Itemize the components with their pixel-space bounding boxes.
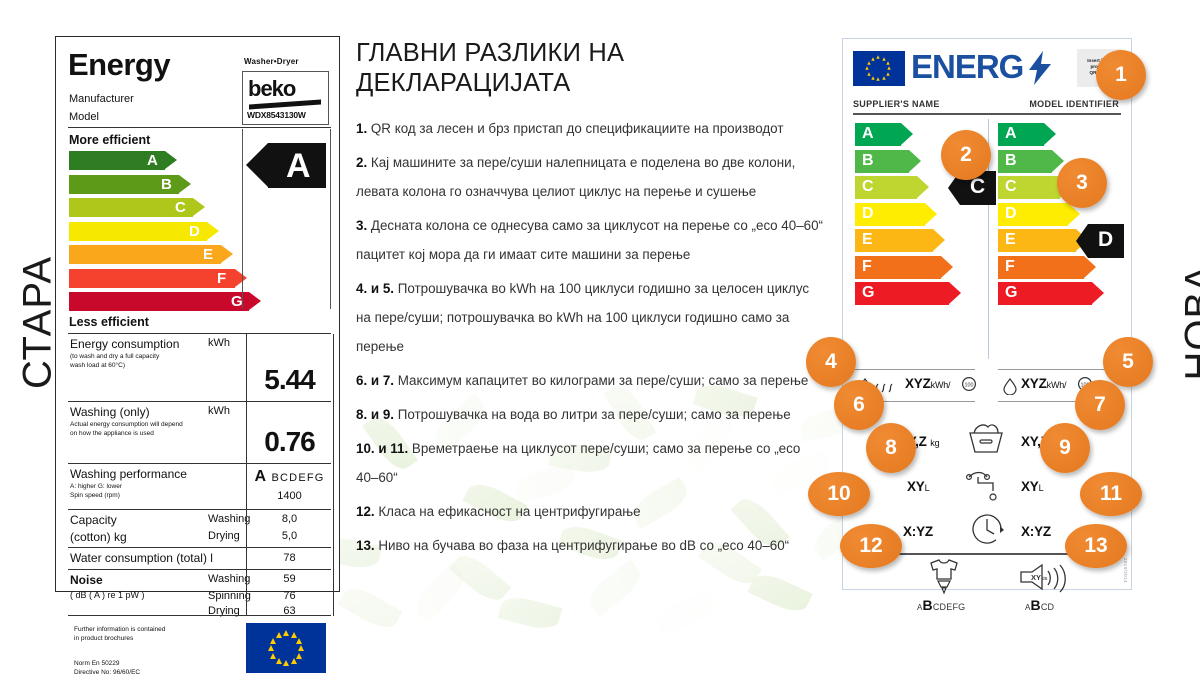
old-scale-bar-D: D (69, 222, 229, 241)
difference-item: 3. Десната колона се однесува само за ци… (356, 211, 824, 269)
old-scale-bar-E: E (69, 245, 229, 264)
item-text: Времетраење на циклусот пере/суши; само … (356, 441, 800, 485)
item-text: Класа на ефикасност на центрифугирање (375, 504, 641, 519)
old-table-row: Energy consumption(to wash and dry a ful… (68, 333, 331, 402)
new-scale-bar-left-C: C (855, 176, 943, 199)
water-right-value: XYL (1021, 479, 1043, 494)
new-scale-letter: C (862, 178, 874, 196)
old-label-model-code: WDX8543130W (247, 110, 306, 120)
old-scale-bar-A: A (69, 151, 229, 170)
energy-right-value: XYZkWh/ (1021, 376, 1066, 391)
new-scale-letter: G (1005, 284, 1017, 302)
new-scale-letter: D (1005, 205, 1017, 223)
callout-badge-7[interactable]: 7 (1075, 380, 1125, 430)
item-text: Максимум капацитет во килограми за пере/… (394, 373, 808, 388)
row-unit: Washing (208, 513, 250, 525)
row-value: A BCDEFG (246, 468, 333, 486)
item-number: 8. и 9. (356, 407, 394, 422)
laundry-basket-icon (962, 421, 1010, 460)
callout-badge-3[interactable]: 3 (1057, 158, 1107, 208)
item-text: Потрошувачка во kWh на 100 циклуси годиш… (356, 281, 809, 354)
item-number: 10. и 11. (356, 441, 408, 456)
row-value-2: 1400 (246, 490, 333, 502)
row-value-2: 5,0 (246, 530, 333, 542)
old-scale-bar-B: B (69, 175, 229, 194)
divider (853, 113, 1121, 115)
callout-badge-5[interactable]: 5 (1103, 337, 1153, 387)
old-table-row: Washing performanceA: higher G: lower Sp… (68, 463, 331, 510)
item-number: 3. (356, 218, 367, 233)
new-scale-letter: F (862, 258, 872, 276)
old-label-footer-2: Norm En 50229 Directive No: 96/60/EC (74, 659, 140, 677)
new-scale-bar-left-F: F (855, 256, 943, 279)
svg-text:XY: XY (1031, 573, 1041, 582)
old-scale-letter: B (161, 176, 172, 193)
old-scale-bar-G: G (69, 292, 229, 311)
new-scale-letter: A (862, 125, 874, 143)
row-label: Water consumption (total) l (70, 551, 213, 565)
item-number: 2. (356, 155, 367, 170)
callout-badge-1[interactable]: 1 (1096, 50, 1146, 100)
new-label-scale-right: ABCDEFG (998, 123, 1086, 309)
row-value: 59 (246, 573, 333, 585)
spin-class-scale: ABCDEFG (917, 597, 965, 613)
callout-badge-13[interactable]: 13 (1065, 524, 1127, 568)
old-table-row: Noise( dB ( A ) re 1 pW )WashingSpinning… (68, 569, 331, 616)
difference-item: 12. Класа на ефикасност на центрифугирањ… (356, 497, 824, 526)
difference-item: 10. и 11. Времетраење на циклусот пере/с… (356, 434, 824, 492)
new-scale-letter: E (1005, 231, 1016, 249)
time-left-value: X:YZ (903, 524, 933, 539)
new-scale-letter: A (1005, 125, 1017, 143)
energy-left-value: XYZkWh/ (905, 376, 950, 391)
leaf-decoration (747, 569, 812, 618)
row-sublabel: A: higher G: lower Spin speed (rpm) (70, 483, 122, 500)
differences-panel: ГЛАВНИ РАЗЛИКИ НА ДЕКЛАРАЦИЈАТА 1. QR ко… (356, 38, 824, 565)
old-label-data-table: Energy consumption(to wash and dry a ful… (68, 333, 331, 585)
row-unit-2: Spinning (208, 590, 251, 602)
row-label-2: (cotton) kg (70, 530, 127, 544)
row-value-2: 76 (246, 590, 333, 602)
old-label-rated-class-letter: A (286, 145, 311, 187)
page-root: СТАРА НОВА Energy Manufacturer Model Was… (0, 0, 1200, 628)
old-scale-letter: A (147, 152, 158, 169)
new-scale-letter: D (862, 205, 874, 223)
old-label-manufacturer: Manufacturer (69, 93, 134, 105)
new-scale-letter: E (862, 231, 873, 249)
old-label-scale: ABCDEFG (69, 151, 229, 316)
eu-flag-icon (853, 51, 905, 86)
callout-badge-4[interactable]: 4 (806, 337, 856, 387)
new-scale-bar-right-F: F (998, 256, 1086, 279)
new-label-scale-left: ABCDEFG (855, 123, 943, 309)
item-text: QR код за лесен и брз пристап до специфи… (367, 121, 783, 136)
row-value: 0.76 (246, 426, 333, 458)
leaf-decoration (498, 593, 563, 634)
eu-flag-icon (246, 623, 326, 673)
old-energy-label: Energy Manufacturer Model Washer•Dryer b… (55, 36, 340, 592)
old-label-appliance-type: Washer•Dryer (244, 57, 299, 66)
old-scale-bar-C: C (69, 198, 229, 217)
tap-faucet-icon (963, 467, 1009, 506)
item-text: Потрошувачка на вода во литри за пере/су… (394, 407, 791, 422)
svg-text:100: 100 (965, 383, 974, 389)
new-scale-bar-left-A: A (855, 123, 943, 146)
new-label-class-right: D (1076, 224, 1124, 258)
new-scale-letter: C (1005, 178, 1017, 196)
row-label: Washing (only) (70, 405, 150, 419)
time-right-value: X:YZ (1021, 524, 1051, 539)
callout-badge-9[interactable]: 9 (1040, 423, 1090, 473)
row-unit: Washing (208, 573, 250, 585)
noise-speaker-icon: XY dB (1018, 563, 1074, 598)
item-number: 12. (356, 504, 375, 519)
leaf-decoration (338, 582, 403, 635)
old-label-brand: beko (248, 76, 295, 102)
leaf-decoration (583, 559, 646, 616)
new-scale-bar-right-A: A (998, 123, 1086, 146)
water-left-value: XYL (907, 479, 929, 494)
item-number: 1. (356, 121, 367, 136)
old-scale-letter: C (175, 199, 186, 216)
old-label-class-column: A (242, 129, 331, 309)
new-scale-letter: B (862, 152, 874, 170)
new-scale-bar-left-G: G (855, 282, 943, 305)
old-label-brand-box: beko WDX8543130W (242, 71, 329, 125)
callout-badge-11[interactable]: 11 (1080, 472, 1142, 516)
row-unit: kWh (208, 337, 230, 349)
item-number: 13. (356, 538, 375, 553)
old-label-model: Model (69, 111, 99, 123)
clock-icon (967, 509, 1009, 554)
row-sublabel: (to wash and dry a full capacity wash lo… (70, 353, 159, 370)
row-label: Washing performance (70, 467, 187, 481)
leaf-decoration (652, 590, 717, 637)
old-label-title: Energy (68, 47, 170, 83)
lightning-bolt-icon (1029, 51, 1051, 85)
row-value: 8,0 (246, 513, 333, 525)
svg-text:dB: dB (1042, 576, 1048, 581)
old-table-row: Capacity(cotton) kgWashingDrying8,05,0 (68, 509, 331, 548)
new-scale-bar-left-D: D (855, 203, 943, 226)
item-text: Десната колона се однесува само за циклу… (356, 218, 823, 262)
row-sublabel: Actual energy consumption will depend on… (70, 421, 183, 438)
row-label: Noise (70, 573, 103, 587)
new-label-class-right-letter: D (1098, 228, 1113, 252)
difference-item: 8. и 9. Потрошувачка на вода во литри за… (356, 400, 824, 429)
new-scale-bar-left-B: B (855, 150, 943, 173)
old-scale-letter: F (217, 270, 226, 287)
old-scale-letter: E (203, 246, 213, 263)
old-scale-letter: D (189, 223, 200, 240)
item-number: 6. и 7. (356, 373, 394, 388)
differences-list: 1. QR код за лесен и брз пристап до спец… (356, 114, 824, 560)
caption-new-label: НОВА (1178, 243, 1200, 403)
old-scale-bar-F: F (69, 269, 229, 288)
old-table-row: Washing (only)Actual energy consumption … (68, 401, 331, 464)
item-text: Ниво на бучава во фаза на центрифугирање… (375, 538, 790, 553)
new-label-brandword: ENERG (911, 48, 1023, 86)
noise-class-scale: ABCD (1025, 597, 1054, 613)
old-scale-letter: G (231, 293, 243, 310)
new-label-supplier: SUPPLIER'S NAME (853, 99, 940, 109)
difference-item: 4. и 5. Потрошувачка во kWh на 100 циклу… (356, 274, 824, 361)
old-label-less-efficient: Less efficient (69, 315, 149, 329)
old-label-more-efficient: More efficient (69, 133, 150, 147)
row-unit: kWh (208, 405, 230, 417)
regulation-code: 2019/2014 (1123, 558, 1128, 583)
row-value: 5.44 (246, 364, 333, 396)
caption-old-label: СТАРА (16, 243, 61, 403)
callout-badge-12[interactable]: 12 (840, 524, 902, 568)
callout-badge-6[interactable]: 6 (834, 380, 884, 430)
new-scale-bar-left-E: E (855, 229, 943, 252)
row-value: 78 (246, 552, 333, 564)
new-label-header: ENERG Insert here product QR code (853, 49, 1121, 91)
new-scale-letter: F (1005, 258, 1015, 276)
row-unit-2: Drying (208, 530, 240, 542)
old-label-rated-class-arrow: A (246, 143, 326, 188)
row-label: Energy consumption (70, 337, 179, 351)
new-scale-bar-right-E: E (998, 229, 1086, 252)
spin-tshirt-icon (923, 557, 965, 602)
callout-badge-8[interactable]: 8 (866, 423, 916, 473)
new-scale-letter: G (862, 284, 874, 302)
item-text: Кај машините за пере/суши налепницата е … (356, 155, 795, 199)
new-label-model-identifier: MODEL IDENTIFIER (1029, 99, 1119, 109)
new-scale-bar-right-G: G (998, 282, 1086, 305)
drop-icon (1003, 377, 1017, 400)
callout-badge-10[interactable]: 10 (808, 472, 870, 516)
page-title: ГЛАВНИ РАЗЛИКИ НА ДЕКЛАРАЦИЈАТА (356, 38, 824, 98)
difference-item: 2. Кај машините за пере/суши налепницата… (356, 148, 824, 206)
difference-item: 13. Ниво на бучава во фаза на центрифуги… (356, 531, 824, 560)
difference-item: 6. и 7. Максимум капацитет во килограми … (356, 366, 824, 395)
old-table-row: Water consumption (total) l78 (68, 547, 331, 570)
cycles-left-icon: 100 (961, 376, 977, 397)
new-scale-letter: B (1005, 152, 1017, 170)
divider (68, 127, 331, 128)
leaf-decoration (410, 563, 471, 624)
row-label-2: ( dB ( A ) re 1 pW ) (70, 590, 145, 600)
callout-badge-2[interactable]: 2 (941, 130, 991, 180)
difference-item: 1. QR код за лесен и брз пристап до спец… (356, 114, 824, 143)
item-number: 4. и 5. (356, 281, 394, 296)
row-label: Capacity (70, 513, 117, 527)
